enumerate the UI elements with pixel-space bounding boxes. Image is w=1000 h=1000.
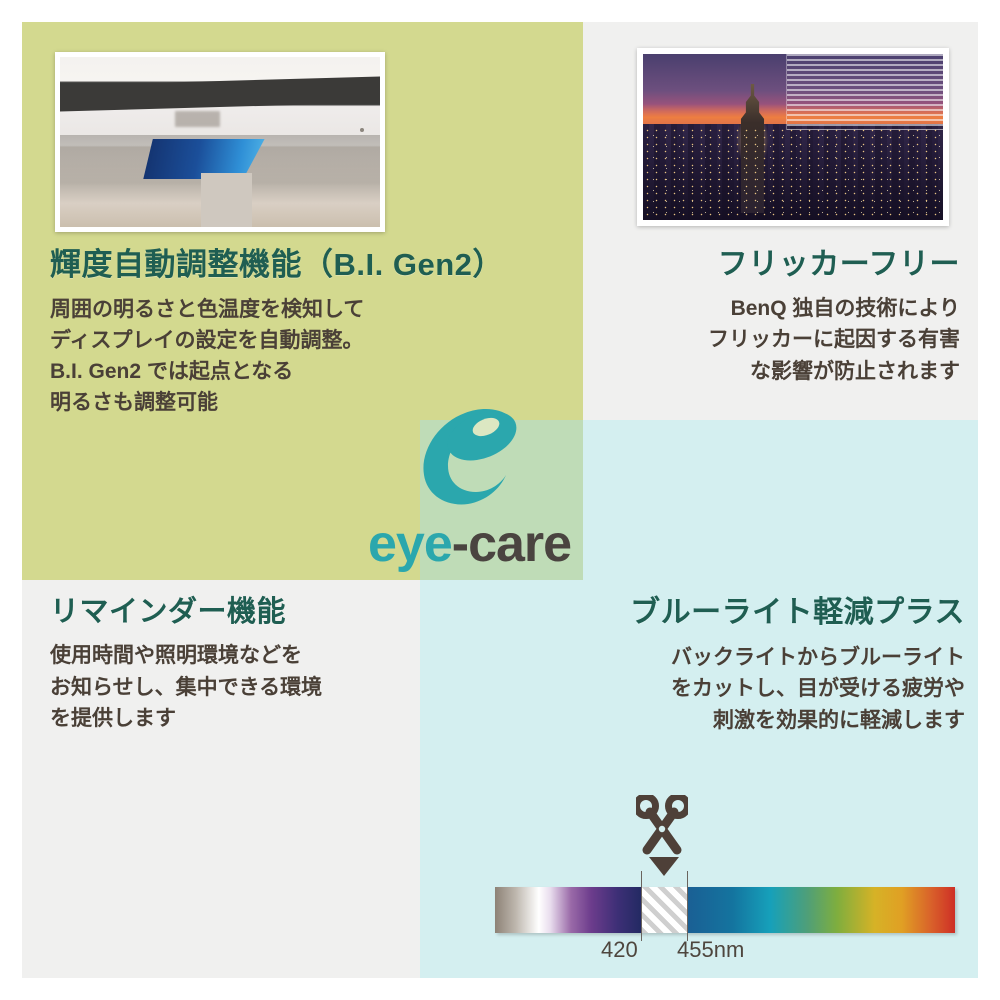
body-line: B.I. Gen2 では起点となる <box>50 356 580 387</box>
heading-flicker-free: フリッカーフリー <box>640 248 960 282</box>
body-reminder: 使用時間や照明環境などを お知らせし、集中できる環境 を提供します <box>50 640 400 735</box>
body-flicker-free: BenQ 独自の技術により フリッカーに起因する有害 な影響が防止されます <box>640 293 960 388</box>
text-block-brightness-intelligence: 輝度自動調整機能（B.I. Gen2） 周囲の明るさと色温度を検知して ディスプ… <box>50 248 580 418</box>
city-skyline-photo <box>643 54 943 220</box>
down-triangle-icon <box>649 857 679 876</box>
body-line: をカットし、目が受ける疲労や <box>560 673 965 705</box>
text-block-reminder: リマインダー機能 使用時間や照明環境などを お知らせし、集中できる環境 を提供し… <box>50 596 400 735</box>
body-line: 刺激を効果的に軽減します <box>560 705 965 737</box>
heading-brightness-intelligence: 輝度自動調整機能（B.I. Gen2） <box>50 248 580 283</box>
label-455nm: 455nm <box>677 937 744 963</box>
heading-low-blue-light: ブルーライト軽減プラス <box>560 596 965 630</box>
body-line: を提供します <box>50 703 400 735</box>
body-line: な影響が防止されます <box>640 356 960 388</box>
logo-word-care: care <box>468 515 571 573</box>
infographic-canvas: 輝度自動調整機能（B.I. Gen2） 周囲の明るさと色温度を検知して ディスプ… <box>0 0 1000 1000</box>
flicker-split-line <box>786 54 787 130</box>
body-low-blue-light: バックライトからブルーライト をカットし、目が受ける疲労や 刺激を効果的に軽減し… <box>560 642 965 737</box>
body-line: バックライトからブルーライト <box>560 642 965 674</box>
monitor-photo <box>60 57 380 227</box>
spectrum-bar <box>495 887 955 933</box>
eye-care-swirl-icon <box>410 403 540 513</box>
spectrum-axis-labels: 420 455nm <box>595 937 855 967</box>
tick-455 <box>687 871 688 941</box>
text-block-flicker-free: フリッカーフリー BenQ 独自の技術により フリッカーに起因する有害 な影響が… <box>640 248 960 387</box>
flicker-scanlines-overlay <box>787 54 943 130</box>
eye-care-wordmark: eye-care <box>368 515 638 573</box>
logo-dash: - <box>452 515 468 573</box>
spectrum-segment-visible <box>687 887 955 933</box>
body-line: BenQ 独自の技術により <box>640 293 960 325</box>
body-line: 使用時間や照明環境などを <box>50 640 400 672</box>
city-window-lights <box>643 127 943 220</box>
monitor-stand <box>201 173 252 227</box>
body-line: ディスプレイの設定を自動調整。 <box>50 325 580 356</box>
tick-420 <box>641 871 642 941</box>
heading-reminder: リマインダー機能 <box>50 596 400 628</box>
blue-light-spectrum-graphic: 420 455nm <box>495 795 957 965</box>
logo-word-eye: eye <box>368 515 452 573</box>
body-line: 周囲の明るさと色温度を検知して <box>50 294 580 325</box>
text-block-low-blue-light: ブルーライト軽減プラス バックライトからブルーライト をカットし、目が受ける疲労… <box>560 596 965 736</box>
spectrum-segment-uv-violet <box>495 887 641 933</box>
body-line: フリッカーに起因する有害 <box>640 324 960 356</box>
monitor-power-indicator <box>360 128 364 132</box>
city-photo-frame <box>637 48 949 226</box>
eye-care-logo: eye-care <box>368 403 638 578</box>
scissors-icon <box>636 795 688 857</box>
label-420: 420 <box>601 937 638 963</box>
spectrum-segment-cut-hatched <box>641 887 687 933</box>
benq-logo-emboss <box>175 111 220 126</box>
monitor-dark-bezel-strip <box>60 76 380 111</box>
monitor-photo-frame <box>55 52 385 232</box>
body-line: お知らせし、集中できる環境 <box>50 672 400 704</box>
body-brightness-intelligence: 周囲の明るさと色温度を検知して ディスプレイの設定を自動調整。 B.I. Gen… <box>50 294 580 418</box>
